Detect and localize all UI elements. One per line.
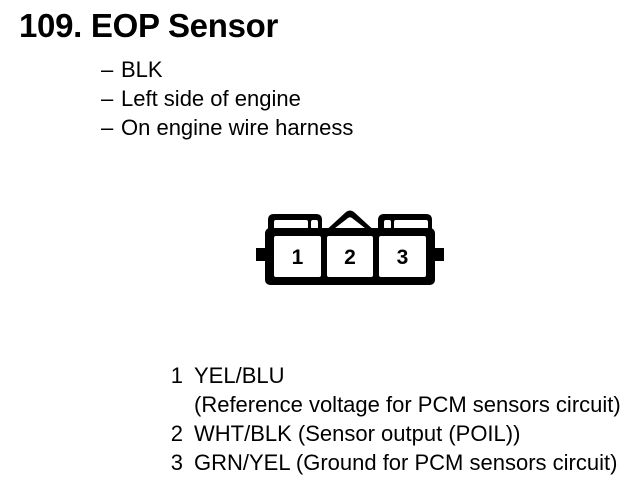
list-item: – On engine wire harness: [101, 113, 531, 142]
pin-legend: 1 YEL/BLU (Reference voltage for PCM sen…: [158, 361, 638, 477]
list-item: – BLK: [101, 55, 531, 84]
legend-pin-number: 3: [158, 448, 183, 477]
legend-row: 3 GRN/YEL (Ground for PCM sensors circui…: [158, 448, 638, 477]
legend-pin-description: WHT/BLK (Sensor output (POIL)): [183, 419, 520, 448]
legend-row: 1 YEL/BLU: [158, 361, 638, 390]
connector-diagram: 1 2 3: [252, 206, 448, 298]
legend-pin-description: YEL/BLU: [183, 361, 285, 390]
dash-bullet-icon: –: [101, 55, 121, 84]
dash-bullet-icon: –: [101, 84, 121, 113]
pin-number-2: 2: [344, 246, 356, 269]
legend-row: 2 WHT/BLK (Sensor output (POIL)): [158, 419, 638, 448]
spec-list: – BLK – Left side of engine – On engine …: [101, 55, 531, 142]
diagram-page: 109. EOP Sensor – BLK – Left side of eng…: [0, 0, 640, 476]
legend-pin-description-continued: (Reference voltage for PCM sensors circu…: [158, 390, 638, 419]
list-item-label: BLK: [121, 55, 163, 84]
list-item-label: On engine wire harness: [121, 113, 353, 142]
list-item-label: Left side of engine: [121, 84, 301, 113]
legend-pin-number: 2: [158, 419, 183, 448]
page-title: 109. EOP Sensor: [19, 6, 278, 46]
dash-bullet-icon: –: [101, 113, 121, 142]
pin-number-1: 1: [292, 246, 304, 269]
pin-number-3: 3: [397, 246, 409, 269]
legend-pin-description: GRN/YEL (Ground for PCM sensors circuit): [183, 448, 617, 477]
list-item: – Left side of engine: [101, 84, 531, 113]
legend-pin-number: 1: [158, 361, 183, 390]
